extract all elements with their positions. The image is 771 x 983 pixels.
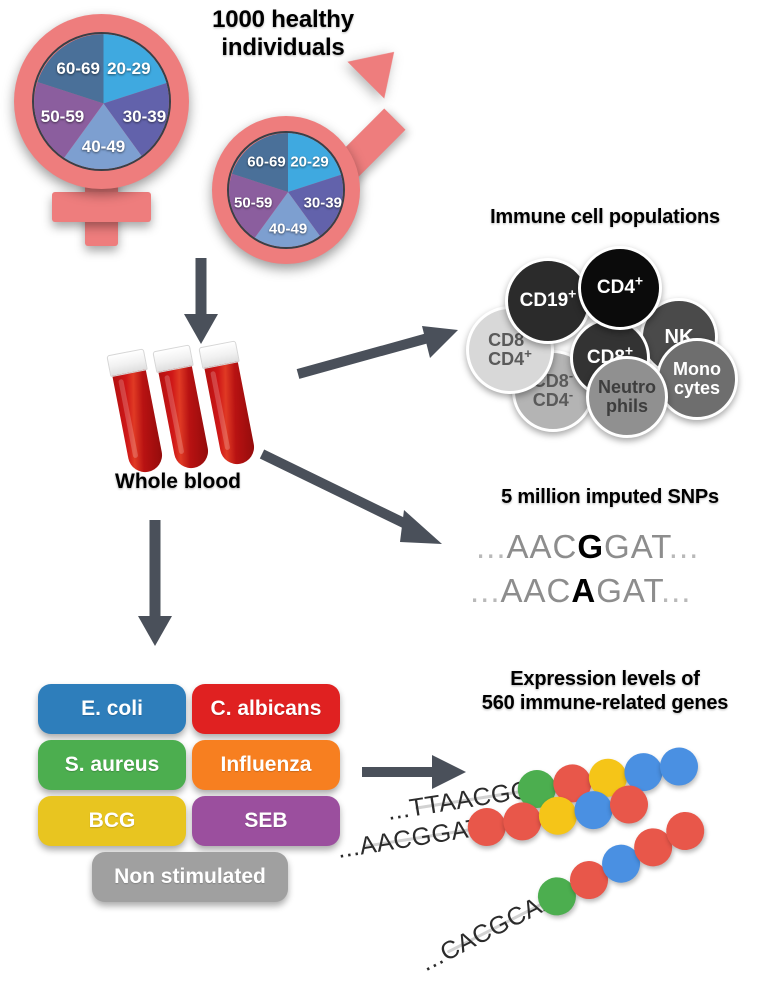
immune-cell-label: CD19+ — [520, 291, 577, 311]
immune-cell-label: Monocytes — [673, 360, 721, 397]
immune-cell-label: Neutrophils — [598, 378, 656, 415]
gene-bead — [572, 788, 615, 831]
immune-cell-bubble-neutrophils: Neutrophils — [586, 356, 668, 438]
immune-cell-bubble-cd19: CD19+ — [505, 258, 591, 344]
gene-bead — [501, 800, 544, 843]
gene-bead — [536, 794, 579, 837]
immune-cell-bubble-cd4: CD4+ — [578, 246, 662, 330]
immune-cell-label: CD4+ — [597, 278, 643, 298]
gene-bead — [607, 783, 650, 826]
diagram-canvas: 1000 healthy individuals Immune cell pop… — [0, 0, 771, 922]
expression-strands: ...TTAACGG...AACGGAT...CACGCAA — [0, 0, 771, 922]
immune-cell-bubble-monocytes: Monocytes — [656, 338, 738, 420]
